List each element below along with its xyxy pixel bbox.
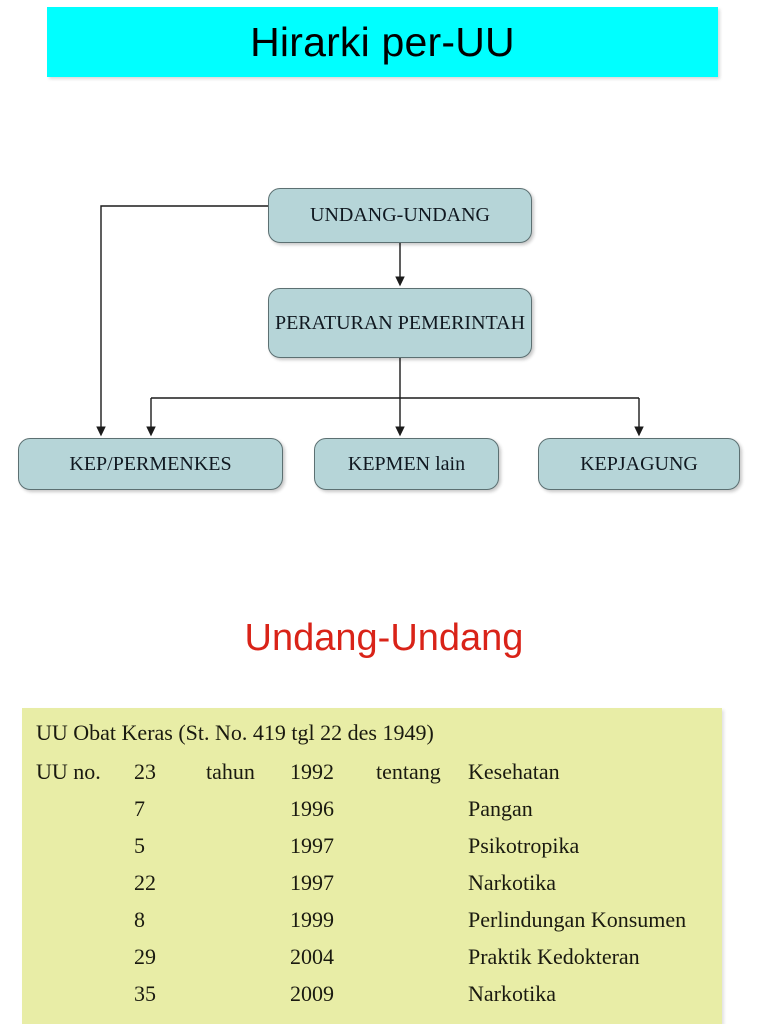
cell-label (36, 939, 124, 976)
cell-subject: Narkotika (468, 865, 708, 902)
cell-tahun (192, 791, 290, 828)
cell-label (36, 976, 124, 1013)
cell-year: 2004 (290, 939, 376, 976)
cell-subject: Kesehatan (468, 754, 708, 791)
diagram-node-kep-permenkes[interactable]: KEP/PERMENKES (18, 438, 283, 490)
diagram-node-label: UNDANG-UNDANG (310, 203, 490, 227)
cell-subject: Narkotika (468, 976, 708, 1013)
cell-subject: Praktik Kedokteran (468, 939, 708, 976)
cell-year: 1999 (290, 902, 376, 939)
cell-label (36, 865, 124, 902)
cell-number: 7 (124, 791, 192, 828)
law-caption: UU Obat Keras (St. No. 419 tgl 22 des 19… (36, 720, 708, 746)
cell-tahun: tahun (192, 754, 290, 791)
cell-number: 23 (124, 754, 192, 791)
cell-tahun (192, 828, 290, 865)
cell-tentang: tentang (376, 754, 468, 791)
cell-subject: Psikotropika (468, 828, 708, 865)
diagram-node-undang-undang[interactable]: UNDANG-UNDANG (268, 188, 532, 243)
cell-year: 1996 (290, 791, 376, 828)
diagram-node-label: KEP/PERMENKES (69, 452, 231, 476)
cell-tentang (376, 828, 468, 865)
diagram-node-kepmen-lain[interactable]: KEPMEN lain (314, 438, 499, 490)
cell-tentang (376, 976, 468, 1013)
cell-subject: Perlindungan Konsumen (468, 902, 708, 939)
cell-label (36, 791, 124, 828)
cell-number: 5 (124, 828, 192, 865)
diagram-node-label: KEPJAGUNG (580, 452, 698, 476)
cell-tentang (376, 865, 468, 902)
cell-year: 1997 (290, 828, 376, 865)
diagram-node-kepjagung[interactable]: KEPJAGUNG (538, 438, 740, 490)
connector-uu-to-permenkes (101, 206, 268, 431)
cell-tahun (192, 865, 290, 902)
table-row: 8 1999 Perlindungan Konsumen (36, 902, 708, 939)
cell-tentang (376, 791, 468, 828)
diagram-node-peraturan-pemerintah[interactable]: PERATURAN PEMERINTAH (268, 288, 532, 358)
cell-number: 22 (124, 865, 192, 902)
cell-tentang (376, 902, 468, 939)
cell-label (36, 902, 124, 939)
table-row: UU no. 23 tahun 1992 tentang Kesehatan (36, 754, 708, 791)
cell-subject: Pangan (468, 791, 708, 828)
cell-number: 8 (124, 902, 192, 939)
cell-number: 35 (124, 976, 192, 1013)
law-list-panel: UU Obat Keras (St. No. 419 tgl 22 des 19… (22, 708, 722, 1024)
cell-label (36, 828, 124, 865)
cell-number: 29 (124, 939, 192, 976)
cell-label: UU no. (36, 754, 124, 791)
table-row: 29 2004 Praktik Kedokteran (36, 939, 708, 976)
diagram-node-label: KEPMEN lain (348, 452, 465, 476)
cell-year: 1992 (290, 754, 376, 791)
cell-tentang (376, 939, 468, 976)
diagram-node-label: PERATURAN PEMERINTAH (275, 311, 525, 335)
table-row: 7 1996 Pangan (36, 791, 708, 828)
table-row: 22 1997 Narkotika (36, 865, 708, 902)
table-row: 35 2009 Narkotika (36, 976, 708, 1013)
law-table: UU no. 23 tahun 1992 tentang Kesehatan 7… (36, 754, 708, 1013)
table-row: 5 1997 Psikotropika (36, 828, 708, 865)
cell-year: 1997 (290, 865, 376, 902)
section-heading: Undang-Undang (0, 618, 768, 660)
cell-tahun (192, 902, 290, 939)
cell-tahun (192, 976, 290, 1013)
hierarchy-diagram: UNDANG-UNDANG PERATURAN PEMERINTAH KEP/P… (0, 0, 768, 560)
cell-tahun (192, 939, 290, 976)
cell-year: 2009 (290, 976, 376, 1013)
